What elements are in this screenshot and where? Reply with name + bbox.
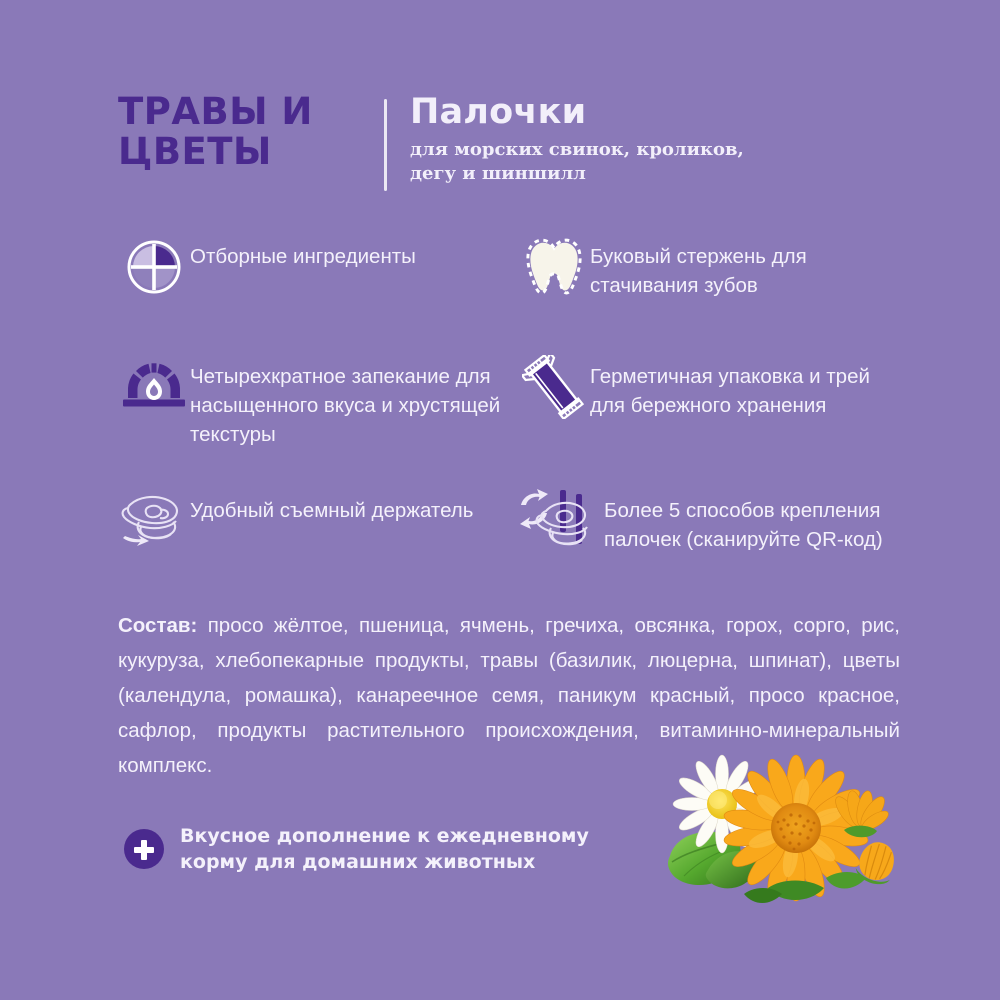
bottom-badge-line-2: корму для домашних животных: [180, 849, 589, 875]
brand-title-line-1: ТРАВЫ И: [118, 92, 368, 132]
product-infographic-page: ТРАВЫ И ЦВЕТЫ Палочки для морских свинок…: [0, 0, 1000, 1000]
product-subtitle-line-2: дегу и шиншилл: [410, 162, 890, 186]
feature-row-1: Отборные ингредиенты Буковый стержень дл…: [118, 236, 908, 346]
feature-item-sealed-package: Герметичная упаковка и трей для бережног…: [518, 356, 910, 420]
feature-item-removable-holder: Удобный съемный держатель: [118, 490, 518, 552]
quadrant-circle-icon: [118, 236, 190, 298]
feature-item-quadruple-baking: Четырехкратное запекание для насыщенного…: [118, 356, 518, 449]
feature-label-quadruple-baking: Четырехкратное запекание для насыщенного…: [190, 356, 518, 449]
product-subtitle: для морских свинок, кроликов, дегу и шин…: [410, 138, 890, 186]
header-divider: [384, 99, 387, 191]
bottom-badge: Вкусное дополнение к ежедневному корму д…: [124, 823, 589, 875]
product-heading-group: Палочки для морских свинок, кроликов, де…: [410, 92, 890, 186]
brand-title: ТРАВЫ И ЦВЕТЫ: [118, 92, 368, 172]
sealed-package-icon: [518, 356, 590, 418]
feature-label-sealed-package: Герметичная упаковка и трей для бережног…: [590, 356, 910, 420]
brand-title-line-2: ЦВЕТЫ: [118, 132, 368, 172]
plus-icon: [124, 829, 164, 869]
product-subtitle-line-1: для морских свинок, кроликов,: [410, 138, 890, 162]
flower-decoration-image: [648, 752, 920, 920]
holder-refresh-icon: [518, 490, 604, 552]
bottom-badge-text: Вкусное дополнение к ежедневному корму д…: [180, 823, 589, 875]
feature-label-removable-holder: Удобный съемный держатель: [190, 490, 473, 525]
feature-row-3: Удобный съемный держатель: [118, 490, 908, 600]
oven-icon: [118, 356, 190, 418]
feature-item-attachment-methods: Более 5 способов крепления палочек (скан…: [518, 490, 910, 554]
product-title: Палочки: [410, 92, 890, 132]
feature-item-selected-ingredients: Отборные ингредиенты: [118, 236, 518, 298]
bottom-badge-line-1: Вкусное дополнение к ежедневному: [180, 823, 589, 849]
removable-holder-icon: [118, 490, 190, 552]
header: ТРАВЫ И ЦВЕТЫ Палочки для морских свинок…: [118, 92, 898, 202]
feature-label-attachment-methods: Более 5 способов крепления палочек (скан…: [604, 490, 910, 554]
feature-label-beech-core: Буковый стержень для стачивания зубов: [590, 236, 910, 300]
feature-row-2: Четырехкратное запекание для насыщенного…: [118, 356, 908, 476]
ingredients-label: Состав:: [118, 614, 197, 637]
feature-label-selected-ingredients: Отборные ингредиенты: [190, 236, 416, 271]
feature-item-beech-core: Буковый стержень для стачивания зубов: [518, 236, 910, 300]
tooth-icon: [518, 236, 590, 298]
